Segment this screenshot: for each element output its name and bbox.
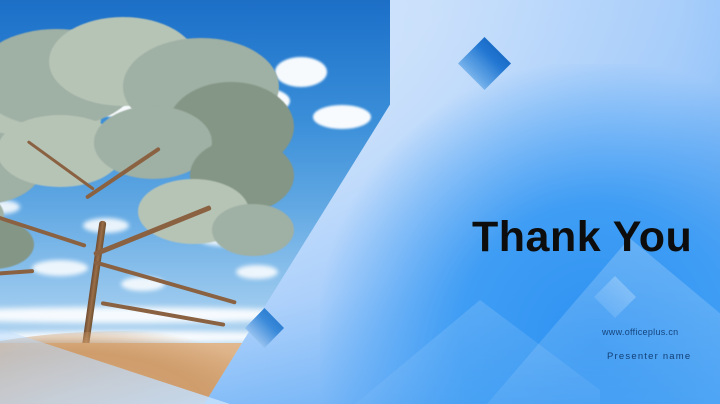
presenter-name: Presenter name <box>607 351 691 362</box>
cloud-icon <box>313 105 371 129</box>
page-title: Thank You <box>472 216 692 259</box>
website-url: www.officeplus.cn <box>602 327 678 337</box>
thank-you-slide: Thank You www.officeplus.cn Presenter na… <box>0 0 720 404</box>
